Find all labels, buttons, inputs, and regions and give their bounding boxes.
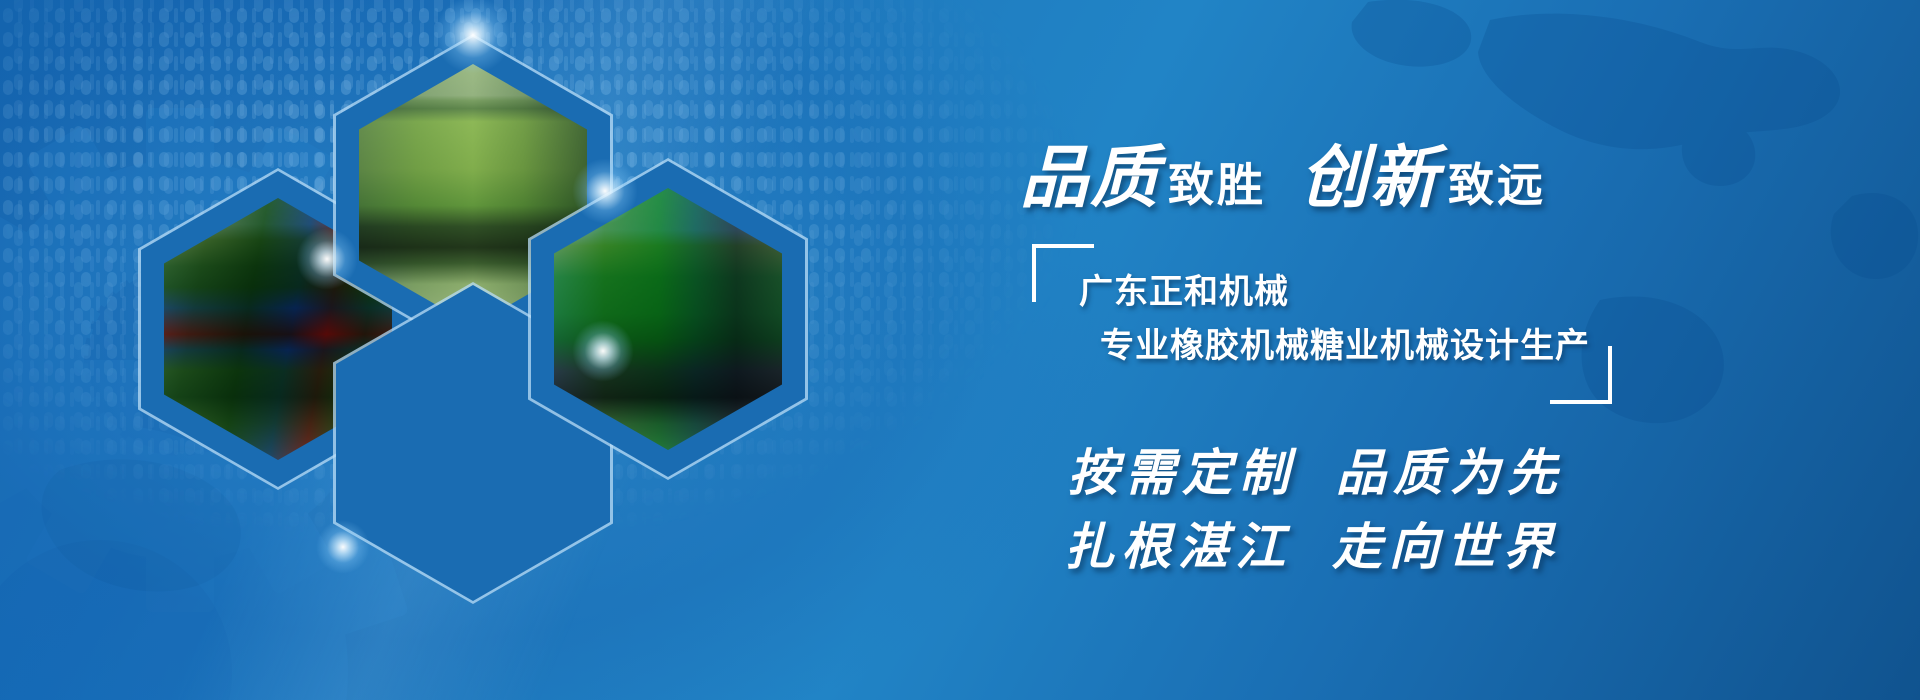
headline-brush-2: 创新 xyxy=(1300,138,1440,218)
slogan-2-left: 扎根湛江 xyxy=(1064,517,1292,576)
hexagon-gallery xyxy=(120,20,940,680)
headline: 品质致胜创新致远 xyxy=(1020,122,1900,212)
bracket-corner-top-left xyxy=(1032,244,1094,248)
company-name: 广东正和机械 xyxy=(1079,264,1289,313)
banner-text-column: 品质致胜创新致远 广东正和机械 专业橡胶机械糖业机械设计生产 按需定制品质为先 … xyxy=(1020,0,1920,700)
company-bracket-frame: 广东正和机械 专业橡胶机械糖业机械设计生产 xyxy=(1032,244,1612,404)
headline-plain-2: 致远 xyxy=(1448,158,1546,212)
bracket-corner-bottom-right-v xyxy=(1608,346,1612,404)
slogan-1-left: 按需定制 xyxy=(1068,443,1296,502)
slogan-line-1: 按需定制品质为先 xyxy=(1068,436,1868,510)
slogan-line-2: 扎根湛江走向世界 xyxy=(1064,510,1868,584)
slogan-2-right: 走向世界 xyxy=(1332,517,1560,576)
headline-brush-1: 品质 xyxy=(1020,138,1160,218)
bracket-corner-bottom-right xyxy=(1550,400,1612,404)
headline-plain-1: 致胜 xyxy=(1168,158,1266,212)
slogan-block: 按需定制品质为先 扎根湛江走向世界 xyxy=(1068,436,1868,584)
company-business: 专业橡胶机械糖业机械设计生产 xyxy=(1100,318,1590,367)
slogan-1-right: 品质为先 xyxy=(1336,443,1564,502)
bracket-corner-top-left-v xyxy=(1032,244,1036,302)
promo-banner: 品质致胜创新致远 广东正和机械 专业橡胶机械糖业机械设计生产 按需定制品质为先 … xyxy=(0,0,1920,700)
